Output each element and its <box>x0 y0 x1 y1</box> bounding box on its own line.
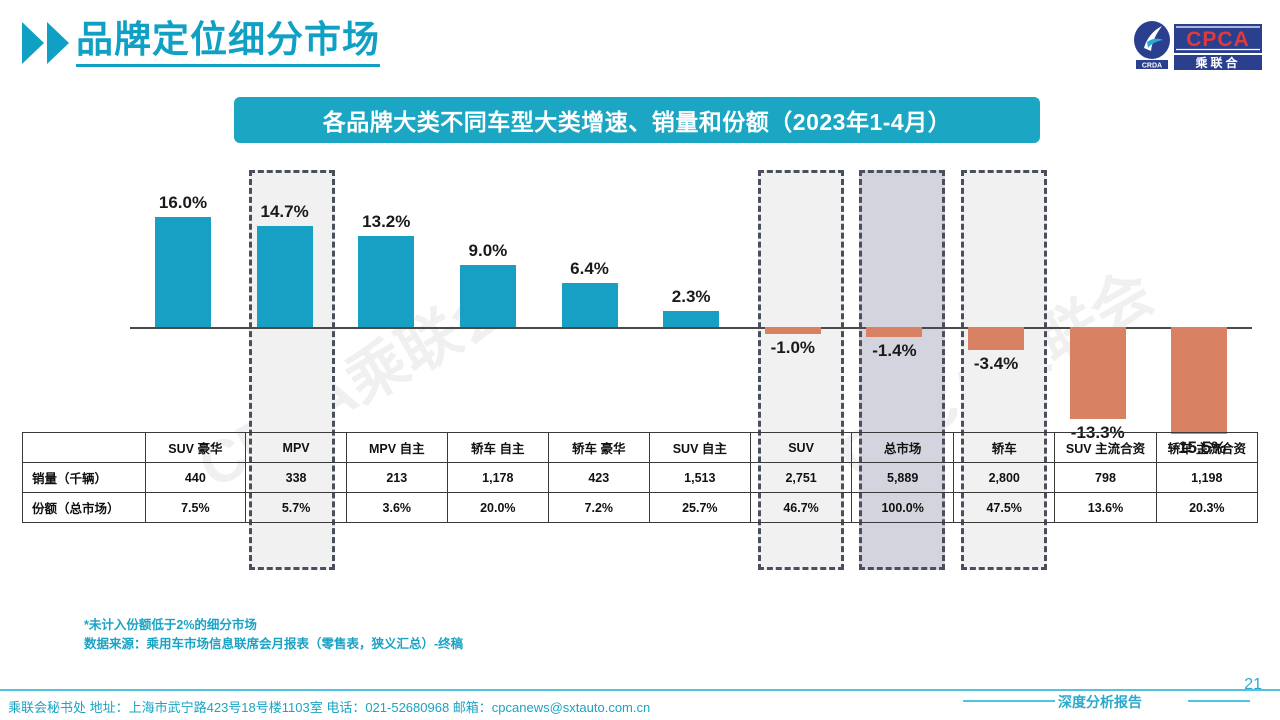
footnote-line-1: *未计入份额低于2%的细分市场 <box>84 616 463 635</box>
bar-value-label: -3.4% <box>974 354 1018 374</box>
bar-value-label: 9.0% <box>469 241 508 261</box>
table-corner-cell <box>23 433 146 463</box>
cpca-logo: CRDA CPCA 乘联合 <box>1132 18 1264 72</box>
bar <box>663 311 719 327</box>
bar <box>562 283 618 327</box>
bar-column: -15.5% <box>1156 160 1242 435</box>
table-cell: 3.6% <box>346 493 447 523</box>
bar-column: -3.4% <box>953 160 1039 435</box>
table-column-header: 轿车 豪华 <box>548 433 649 463</box>
table-cell: 100.0% <box>852 493 954 523</box>
table-cell: 213 <box>346 463 447 493</box>
bar-value-label: 14.7% <box>261 202 309 222</box>
bar-value-label: 13.2% <box>362 212 410 232</box>
table-cell: 1,513 <box>649 463 750 493</box>
bar-column: 13.2% <box>343 160 429 435</box>
page-number: 21 <box>1244 676 1262 694</box>
table-cell: 338 <box>246 463 347 493</box>
bar <box>968 327 1024 350</box>
bar-column: -13.3% <box>1055 160 1141 435</box>
table-cell: 7.5% <box>145 493 246 523</box>
bar-value-label: -1.4% <box>872 341 916 361</box>
table-column-header: 轿车 自主 <box>447 433 548 463</box>
svg-text:乘联合: 乘联合 <box>1194 55 1240 70</box>
footer-report-label: 深度分析报告 <box>1058 692 1142 712</box>
table-cell: 1,178 <box>447 463 548 493</box>
bar-chart: 16.0%14.7%13.2%9.0%6.4%2.3%-1.0%-1.4%-3.… <box>0 160 1280 435</box>
table-row: 份额（总市场）7.5%5.7%3.6%20.0%7.2%25.7%46.7%10… <box>23 493 1258 523</box>
bar <box>866 327 922 337</box>
bar <box>1070 327 1126 419</box>
bar-column: 6.4% <box>547 160 633 435</box>
bar <box>1171 327 1227 434</box>
bar-value-label: 16.0% <box>159 193 207 213</box>
table-cell: 13.6% <box>1055 493 1156 523</box>
table-row: 销量（千辆）4403382131,1784231,5132,7515,8892,… <box>23 463 1258 493</box>
bar <box>257 226 313 327</box>
table-cell: 20.0% <box>447 493 548 523</box>
footer-contact: 乘联会秘书处 地址：上海市武宁路423号18号楼1103室 电话：021-526… <box>8 697 650 716</box>
table-column-header: 轿车 主流合资 <box>1156 433 1257 463</box>
double-chevron-icon <box>22 22 69 64</box>
table-cell: 25.7% <box>649 493 750 523</box>
table-cell: 423 <box>548 463 649 493</box>
chart-title-banner: 各品牌大类不同车型大类增速、销量和份额（2023年1-4月） <box>234 97 1040 143</box>
bar-value-label: 2.3% <box>672 287 711 307</box>
page-title: 品牌定位细分市场 <box>76 18 380 67</box>
table-column-header: SUV 自主 <box>649 433 750 463</box>
bar-column: 9.0% <box>445 160 531 435</box>
footer-divider <box>0 689 1280 691</box>
bar-column: 16.0% <box>140 160 226 435</box>
footnote-line-2: 数据来源：乘用车市场信息联席会月报表（零售表，狭义汇总）-终稿 <box>84 635 463 654</box>
footer-dash-right <box>1188 700 1250 702</box>
table-cell: 440 <box>145 463 246 493</box>
table-cell: 7.2% <box>548 493 649 523</box>
bar <box>765 327 821 334</box>
table-cell: 47.5% <box>954 493 1055 523</box>
bar-value-label: 6.4% <box>570 259 609 279</box>
bar-column: -1.4% <box>851 160 937 435</box>
table-cell: 798 <box>1055 463 1156 493</box>
bar-value-label: -1.0% <box>771 338 815 358</box>
table-cell: 2,800 <box>954 463 1055 493</box>
table-cell: 5.7% <box>246 493 347 523</box>
table-column-header: MPV <box>246 433 347 463</box>
table-column-header: 总市场 <box>852 433 954 463</box>
page-header: 品牌定位细分市场 CRDA CPCA 乘联合 <box>0 0 1280 88</box>
table-column-header: 轿车 <box>954 433 1055 463</box>
table-header-row: SUV 豪华MPVMPV 自主轿车 自主轿车 豪华SUV 自主SUV总市场轿车S… <box>23 433 1258 463</box>
table-cell: 5,889 <box>852 463 954 493</box>
footer-dash-left <box>963 700 1055 702</box>
table-cell: 46.7% <box>750 493 851 523</box>
bar-column: -1.0% <box>750 160 836 435</box>
table-row-label: 份额（总市场） <box>23 493 146 523</box>
table-cell: 2,751 <box>750 463 851 493</box>
table-cell: 1,198 <box>1156 463 1257 493</box>
bar-column: 14.7% <box>242 160 328 435</box>
bar <box>460 265 516 327</box>
svg-text:CPCA: CPCA <box>1186 28 1250 51</box>
footnotes: *未计入份额低于2%的细分市场 数据来源：乘用车市场信息联席会月报表（零售表，狭… <box>84 616 463 654</box>
table-row-label: 销量（千辆） <box>23 463 146 493</box>
table-column-header: SUV 豪华 <box>145 433 246 463</box>
svg-text:CRDA: CRDA <box>1142 63 1162 70</box>
bar-column: 2.3% <box>648 160 734 435</box>
table-cell: 20.3% <box>1156 493 1257 523</box>
bar <box>358 236 414 327</box>
table-column-header: SUV <box>750 433 851 463</box>
table-column-header: SUV 主流合资 <box>1055 433 1156 463</box>
table-column-header: MPV 自主 <box>346 433 447 463</box>
data-table: SUV 豪华MPVMPV 自主轿车 自主轿车 豪华SUV 自主SUV总市场轿车S… <box>22 432 1258 523</box>
bar <box>155 217 211 327</box>
